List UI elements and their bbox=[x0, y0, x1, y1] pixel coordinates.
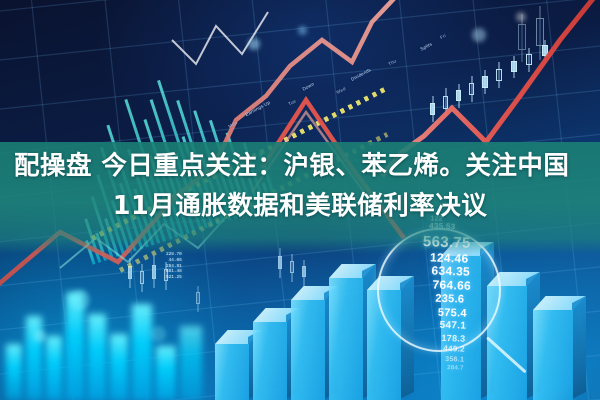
headline-line-2: 11月通胀数据和美联储利率决议 bbox=[10, 186, 590, 226]
headline-text: 配操盘 今日重点关注：沪银、苯乙烯。关注中国 11月通胀数据和美联储利率决议 bbox=[0, 146, 600, 226]
stock-market-banner-image: Earnings Up Down Dividends Splits Mon Tu… bbox=[0, 0, 600, 400]
headline-line-1: 配操盘 今日重点关注：沪银、苯乙烯。关注中国 bbox=[10, 146, 590, 186]
